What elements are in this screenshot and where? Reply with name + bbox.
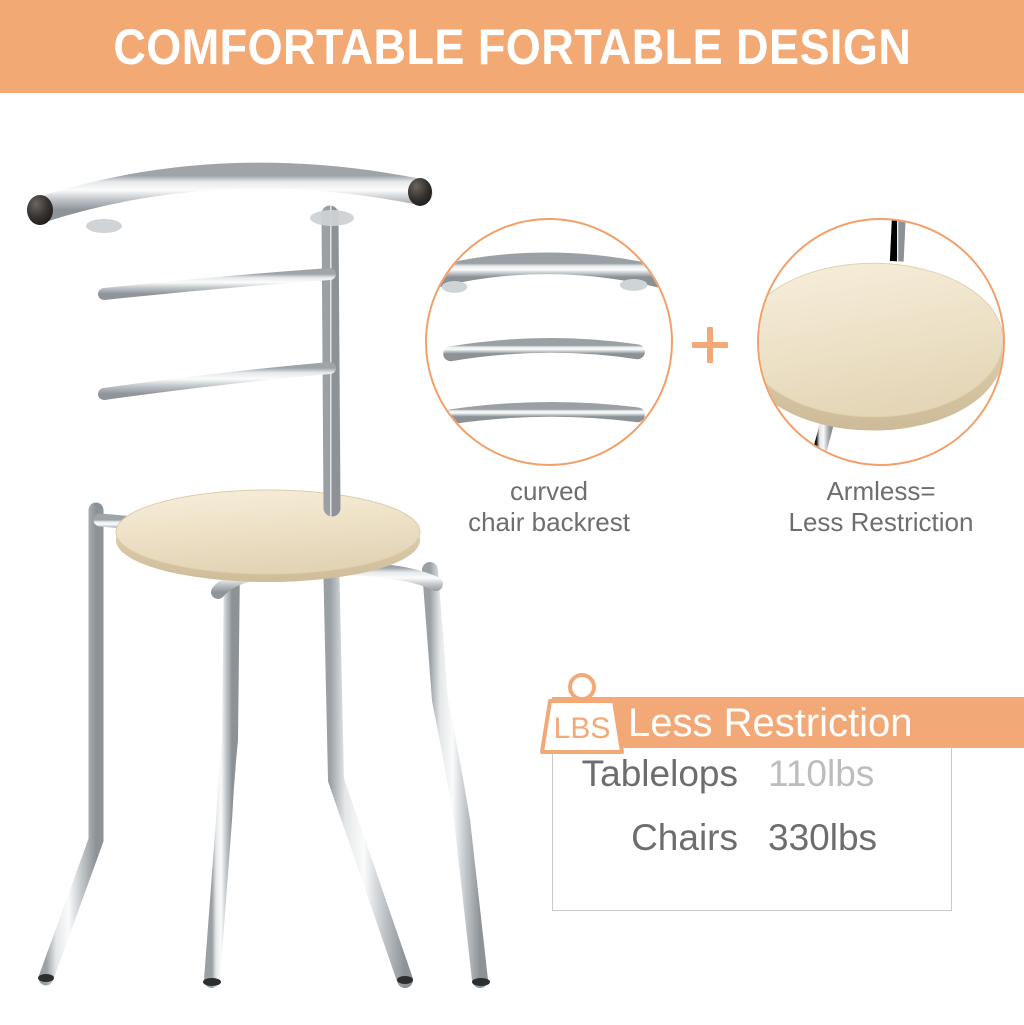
detail-circle-seat [757,218,1005,466]
page-title: COMFORTABLE FORTABLE DESIGN [113,22,911,72]
weight-row-tabletops: Tablelops 110lbs [564,753,918,817]
caption-seat: Armless= Less Restriction [745,476,1017,537]
caption-backrest: curved chair backrest [425,476,673,537]
detail-circle-backrest [425,218,673,466]
caption-seat-line2: Less Restriction [745,507,1017,538]
caption-backrest-line1: curved [425,476,673,507]
caption-seat-line1: Armless= [745,476,1017,507]
weight-row-chairs-label: Chairs [631,817,738,859]
seat-detail-icon [759,220,1003,464]
weight-rows: Tablelops 110lbs Chairs 330lbs [552,753,952,881]
plus-icon [690,325,730,365]
weight-row-tabletops-value: 110lbs [768,753,918,795]
weight-capacity-card: Less Restriction LBS Tablelops 110lbs Ch… [552,681,952,911]
weight-row-chairs-value: 330lbs [768,817,918,859]
weight-row-tabletops-label: Tablelops [582,753,738,795]
header-banner: COMFORTABLE FORTABLE DESIGN [0,0,1024,93]
weight-icon: LBS [534,670,630,760]
weight-icon-label: LBS [554,712,611,745]
weight-row-chairs: Chairs 330lbs [564,817,918,881]
caption-backrest-line2: chair backrest [425,507,673,538]
backrest-detail-icon [427,220,671,464]
